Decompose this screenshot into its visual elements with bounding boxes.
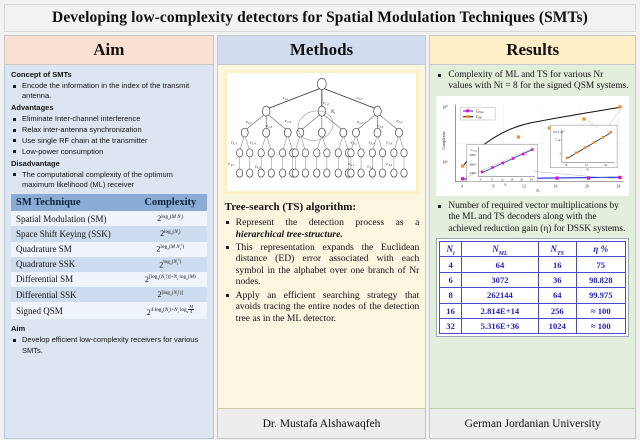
cell-complexity: 2[log2(Nt!)]: [134, 287, 207, 302]
presenter-name: Dr. Mustafa Alshawaqfeh: [263, 418, 381, 430]
column-header-eta: η %: [576, 242, 626, 257]
results-footer: German Jordanian University: [429, 409, 636, 439]
list-item: Apply an efficient searching strategy th…: [224, 290, 420, 325]
cell-complexity: 2[log2(Nt!)]+Nt log2(M): [134, 272, 207, 287]
highlight-label: Nt: [329, 109, 334, 115]
results-bullet-1-list: Complexity of ML and TS for various Nr v…: [436, 70, 629, 93]
table-header-row: SM Technique Complexity: [11, 194, 207, 211]
aim-footer-block: Aim Develop efficient low-complexity rec…: [11, 324, 207, 355]
edge-label: e4,2: [367, 163, 373, 170]
column-header-nt: Nt: [440, 242, 462, 257]
edge-label: e4,3: [386, 161, 392, 168]
chart-xtick: 8: [493, 184, 495, 188]
cell-technique: Signed QSM: [11, 302, 134, 319]
cell-nt: 6: [440, 272, 462, 287]
results-table: Nt NML NTS η % 4 64 16 75: [439, 241, 626, 334]
results-bullet-2-list: Number of required vector multiplication…: [436, 201, 629, 235]
cell-nml: 64: [461, 257, 538, 272]
aim-list: Develop efficient low-complexity receive…: [11, 335, 207, 355]
chart-xtick: 24: [617, 184, 621, 188]
cell-complexity: 2log2(M Nt2): [134, 242, 207, 257]
column-header-methods: Methods: [217, 35, 427, 65]
cell-complexity: 2log2(M Nt): [134, 211, 207, 226]
tree-search-figure: e1,1 e1,2 e1,3 e2,2 e2,3 e2,4 e2,1 e2,3 …: [224, 70, 420, 194]
cell-technique: Quadrature SSK: [11, 257, 134, 272]
column-header-technique: SM Technique: [11, 194, 134, 211]
table-row: 8 262144 64 99.975: [440, 288, 626, 303]
list-item: Low-power consumption: [11, 147, 207, 157]
cell-nts: 16: [539, 257, 576, 272]
list-item: Complexity of ML and TS for various Nr v…: [436, 70, 629, 93]
list-item: Represent the detection process as a hie…: [224, 217, 420, 240]
edge-label: e2,1: [357, 119, 363, 126]
list-item: Eliminate Inter-channel interference: [11, 114, 207, 124]
list-item: Number of required vector multiplication…: [436, 201, 629, 235]
cell-nml: 262144: [461, 288, 538, 303]
inset-cprop-ytick: 4400: [470, 171, 477, 175]
column-body-methods: e1,1 e1,2 e1,3 e2,2 e2,3 e2,4 e2,1 e2,3 …: [217, 65, 427, 409]
poster-columns: Aim Concept of SMTs Encode the informati…: [4, 35, 636, 439]
list-item: Relax inter-antenna synchronization: [11, 125, 207, 135]
table-row: 16 2.814E+14 256 ≈ 100: [440, 303, 626, 318]
cell-technique: Space Shift Keying (SSK): [11, 226, 134, 241]
column-header-aim: Aim: [4, 35, 214, 65]
edge-label: e2,4: [396, 118, 402, 125]
column-header-complexity: Complexity: [134, 194, 207, 211]
chart-legend: CProp CML: [461, 107, 496, 120]
table-row: Signed QSM 24 log2(Nt)+Nt log2M4: [11, 302, 207, 319]
table-row: Differential SM 2[log2(Nt!)]+Nt log2(M): [11, 272, 207, 287]
edge-label: e1,3: [356, 95, 362, 102]
cell-complexity: 2log2(Nt2): [134, 257, 207, 272]
affiliation-name: German Jordanian University: [465, 418, 601, 430]
poster-title-bar: Developing low-complexity detectors for …: [4, 4, 636, 32]
edge-label: e4,1: [348, 161, 354, 168]
list-item: The computational complexity of the opti…: [11, 170, 207, 190]
ts-algorithm-title: Tree-search (TS) algorithm:: [225, 201, 420, 213]
methods-footer: Dr. Mustafa Alshawaqfeh: [217, 409, 427, 439]
cell-eta: ≈ 100: [576, 303, 626, 318]
disadvantage-heading: Disadvantage: [11, 159, 207, 169]
column-header-methods-label: Methods: [290, 40, 353, 60]
advantages-list: Eliminate Inter-channel interference Rel…: [11, 114, 207, 156]
poster-root: Developing low-complexity detectors for …: [0, 0, 640, 440]
table-row: Quadrature SM 2log2(M Nt2): [11, 242, 207, 257]
cell-nts: 64: [539, 288, 576, 303]
edge-label: e4,3: [254, 163, 260, 170]
cell-nml: 5.316E+36: [461, 318, 538, 333]
column-header-aim-label: Aim: [93, 40, 124, 60]
list-item: Encode the information in the index of t…: [11, 81, 207, 101]
cell-eta: 99.975: [576, 288, 626, 303]
list-item-emphasis: hierarchical tree-structure.: [236, 229, 343, 240]
cell-eta: 75: [576, 257, 626, 272]
table-row: Differential SSK 2[log2(Nt!)]: [11, 287, 207, 302]
edge-label: e3,4: [386, 139, 392, 146]
table-row: Spatial Modulation (SM) 2log2(M Nt): [11, 211, 207, 226]
table-row: 32 5.316E+36 1024 ≈ 100: [440, 318, 626, 333]
cell-nts: 256: [539, 303, 576, 318]
table-row: Space Shift Keying (SSK) 2log2(Nt): [11, 226, 207, 241]
cell-nts: 1024: [539, 318, 576, 333]
concept-heading: Concept of SMTs: [11, 70, 207, 80]
list-item-text: Represent the detection process as a: [236, 217, 420, 228]
disadvantage-list: The computational complexity of the opti…: [11, 170, 207, 190]
cell-nt: 8: [440, 288, 462, 303]
inset-cprop-ytick: 4600: [470, 162, 477, 166]
cell-nml: 3072: [461, 272, 538, 287]
column-body-results: Complexity of ML and TS for various Nr v…: [429, 65, 636, 409]
inset-cml: 3.6 x 108 1 10 15 20 Nr CML: [551, 125, 618, 172]
edge-label: e1,1: [282, 95, 288, 102]
cell-nt: 32: [440, 318, 462, 333]
chart-xtick: 20: [585, 184, 589, 188]
methods-list: Represent the detection process as a hie…: [224, 217, 420, 324]
column-header-results: Results: [429, 35, 636, 65]
cell-eta: ≈ 100: [576, 318, 626, 333]
column-aim: Aim Concept of SMTs Encode the informati…: [4, 35, 214, 439]
cell-eta: 98.828: [576, 272, 626, 287]
table-row: Quadrature SSK 2log2(Nt2): [11, 257, 207, 272]
edge-label: e3,3: [230, 139, 236, 146]
cell-technique: Differential SM: [11, 272, 134, 287]
aim-heading: Aim: [11, 324, 207, 334]
chart-xtick: 16: [554, 184, 558, 188]
advantages-heading: Advantages: [11, 103, 207, 113]
column-header-nml: NML: [461, 242, 538, 257]
cell-nts: 36: [539, 272, 576, 287]
edge-label: e3,4: [249, 139, 255, 146]
chart-ylabel: Complexity: [442, 131, 446, 149]
concept-list: Encode the information in the index of t…: [11, 81, 207, 101]
column-header-results-label: Results: [506, 40, 559, 60]
cell-technique: Spatial Modulation (SM): [11, 211, 134, 226]
sm-technique-table: SM Technique Complexity Spatial Modulati…: [11, 194, 207, 319]
list-item: Use single RF chain at the transmitter: [11, 136, 207, 146]
cell-nt: 16: [440, 303, 462, 318]
page-title: Developing low-complexity detectors for …: [52, 9, 588, 27]
cell-complexity: 24 log2(Nt)+Nt log2M4: [134, 302, 207, 319]
table-header-row: Nt NML NTS η %: [440, 242, 626, 257]
cell-technique: Quadrature SM: [11, 242, 134, 257]
cell-complexity: 2log2(Nt): [134, 226, 207, 241]
edge-label: e1,2: [323, 100, 329, 107]
results-table-wrapper: Nt NML NTS η % 4 64 16 75: [436, 238, 629, 337]
column-header-nts: NTS: [539, 242, 576, 257]
cell-nml: 2.814E+14: [461, 303, 538, 318]
inset-cprop-ytick: 5000: [470, 153, 477, 157]
edge-label: e2,2: [246, 119, 252, 126]
column-body-aim: Concept of SMTs Encode the information i…: [4, 65, 214, 439]
column-results: Results Complexity of ML and TS for vari…: [429, 35, 636, 439]
complexity-chart-svg: CProp CML: [436, 96, 629, 196]
edge-label: e4,1: [228, 161, 234, 168]
edge-label: e3,4: [368, 139, 374, 146]
chart-xtick: 12: [522, 184, 526, 188]
edge-label: e2,4: [285, 118, 291, 125]
list-item: Develop efficient low-complexity receive…: [11, 335, 207, 355]
chart-xtick: 4: [461, 184, 463, 188]
cell-technique: Differential SSK: [11, 287, 134, 302]
complexity-chart: CProp CML: [436, 96, 629, 196]
table-row: 6 3072 36 98.828: [440, 272, 626, 287]
list-item: This representation expands the Euclidea…: [224, 242, 420, 288]
table-row: 4 64 16 75: [440, 257, 626, 272]
column-methods: Methods: [217, 35, 427, 439]
cell-nt: 4: [440, 257, 462, 272]
tree-diagram-svg: e1,1 e1,2 e1,3 e2,2 e2,3 e2,4 e2,1 e2,3 …: [227, 73, 417, 191]
